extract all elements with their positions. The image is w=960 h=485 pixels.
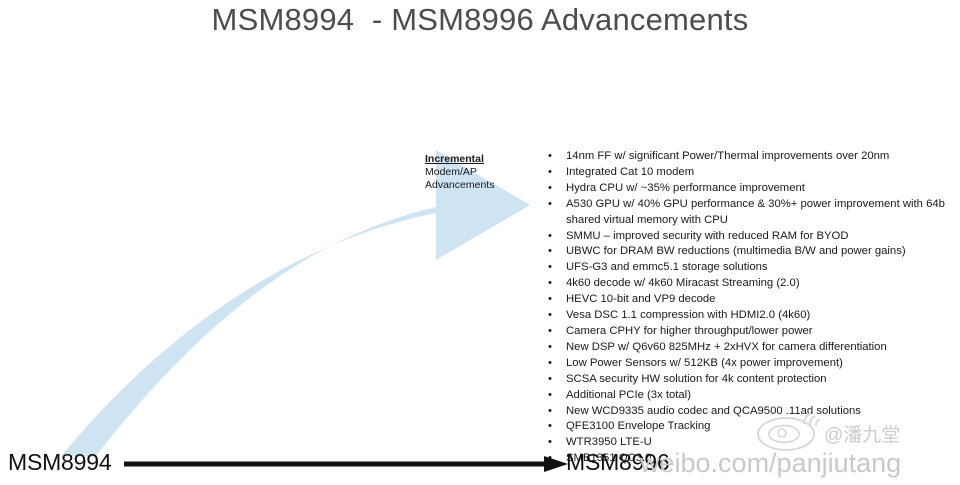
list-item: •Integrated Cat 10 modem [546,165,958,181]
timeline-from-label: MSM8994 [8,449,111,476]
incremental-label-line-1: Incremental [425,153,535,166]
list-item-label: Camera CPHY for higher throughput/lower … [566,324,958,340]
bullet-marker-icon: • [548,372,552,388]
list-item: •UFS-G3 and emmc5.1 storage solutions [546,260,958,276]
list-item: •QFE3100 Envelope Tracking [546,419,958,435]
list-item-label: Hydra CPU w/ ~35% performance improvemen… [566,181,958,197]
bullet-marker-icon: • [548,149,552,165]
bullet-marker-icon: • [548,324,552,340]
bullet-marker-icon: • [548,229,552,245]
timeline-to-label: MSM8996 [566,449,669,476]
list-item-label: UBWC for DRAM BW reductions (multimedia … [566,244,958,260]
list-item-label: QFE3100 Envelope Tracking [566,419,958,435]
list-item-label: UFS-G3 and emmc5.1 storage solutions [566,260,958,276]
bullet-marker-icon: • [548,340,552,356]
list-item-label: SCSA security HW solution for 4k content… [566,372,958,388]
list-item: •HEVC 10-bit and VP9 decode [546,292,958,308]
incremental-advancement-arrow [0,55,580,465]
bullet-marker-icon: • [548,244,552,260]
incremental-label-line-2: Modem/AP [425,166,535,179]
list-item: •New DSP w/ Q6v60 825MHz + 2xHVX for cam… [546,340,958,356]
list-item-label: SMMU – improved security with reduced RA… [566,229,958,245]
list-item-label: Additional PCIe (3x total) [566,388,958,404]
arrow-shape [62,150,530,457]
incremental-label-line-3: Advancements [425,179,535,192]
bullet-marker-icon: • [548,292,552,308]
advancements-bullet-list: •14nm FF w/ significant Power/Thermal im… [546,149,958,467]
bullet-marker-icon: • [548,388,552,404]
list-item: •Low Power Sensors w/ 512KB (4x power im… [546,356,958,372]
list-item-label: New DSP w/ Q6v60 825MHz + 2xHVX for came… [566,340,958,356]
list-item: •Vesa DSC 1.1 compression with HDMI2.0 (… [546,308,958,324]
list-item: •UBWC for DRAM BW reductions (multimedia… [546,244,958,260]
page-title: MSM8994 - MSM8996 Advancements [0,2,960,38]
list-item: •New WCD9335 audio codec and QCA9500 .11… [546,404,958,420]
bullet-marker-icon: • [548,197,552,213]
bullet-marker-icon: • [548,435,552,451]
incremental-advancements-label: Incremental Modem/AP Advancements [425,153,535,192]
bullet-marker-icon: • [548,276,552,292]
bullet-marker-icon: • [548,260,552,276]
bullet-marker-icon: • [548,165,552,181]
list-item: •4k60 decode w/ 4k60 Miracast Streaming … [546,276,958,292]
list-item: •Hydra CPU w/ ~35% performance improveme… [546,181,958,197]
bullet-marker-icon: • [548,356,552,372]
list-item-label: 4k60 decode w/ 4k60 Miracast Streaming (… [566,276,958,292]
timeline-arrow-icon [120,452,570,476]
list-item: •Additional PCIe (3x total) [546,388,958,404]
list-item-label: New WCD9335 audio codec and QCA9500 .11a… [566,404,958,420]
slide-canvas: MSM8994 - MSM8996 Advancements Increment… [0,0,960,485]
list-item-label: A530 GPU w/ 40% GPU performance & 30%+ p… [566,197,958,229]
list-item: •14nm FF w/ significant Power/Thermal im… [546,149,958,165]
list-item: •A530 GPU w/ 40% GPU performance & 30%+ … [546,197,958,229]
list-item-label: Integrated Cat 10 modem [566,165,958,181]
bullet-marker-icon: • [548,404,552,420]
list-item-label: 14nm FF w/ significant Power/Thermal imp… [566,149,958,165]
bullet-marker-icon: • [548,308,552,324]
list-item: •Camera CPHY for higher throughput/lower… [546,324,958,340]
list-item: •SMMU – improved security with reduced R… [546,229,958,245]
list-item-label: Vesa DSC 1.1 compression with HDMI2.0 (4… [566,308,958,324]
list-item-label: Low Power Sensors w/ 512KB (4x power imp… [566,356,958,372]
bullet-marker-icon: • [548,181,552,197]
bullet-marker-icon: • [548,419,552,435]
list-item-label: HEVC 10-bit and VP9 decode [566,292,958,308]
list-item: •SCSA security HW solution for 4k conten… [546,372,958,388]
